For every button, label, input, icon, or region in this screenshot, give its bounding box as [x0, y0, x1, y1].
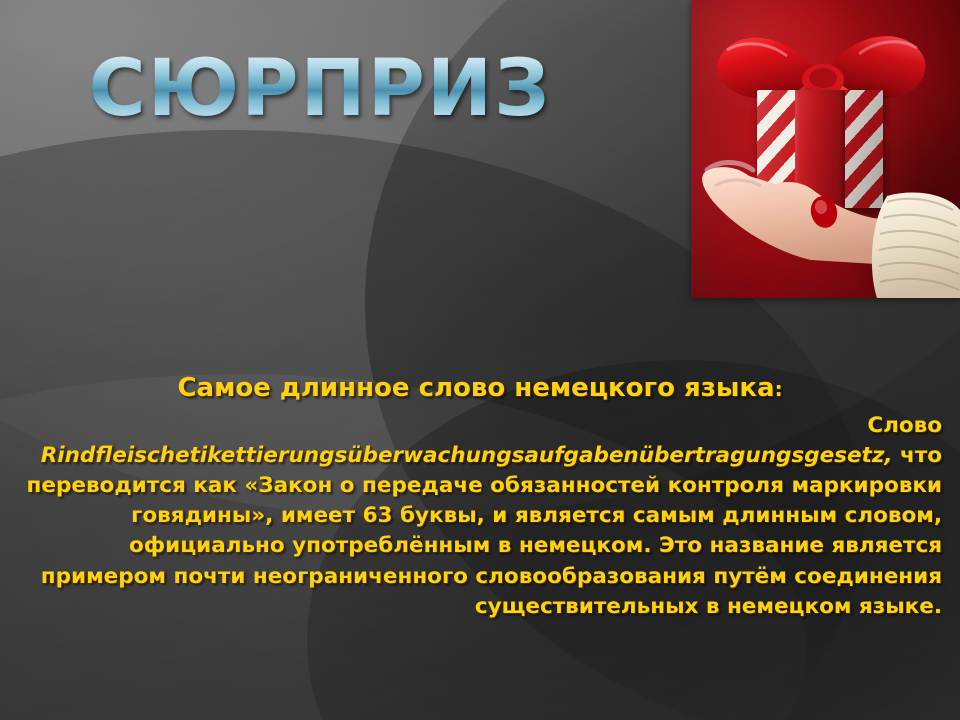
body-rest-text: что переводится как «Закон о передаче об…: [27, 443, 942, 618]
german-longest-word: Rindfleischetikettierungsüberwachungsauf…: [41, 443, 893, 468]
slide-title: СЮРПРИЗ: [88, 50, 551, 128]
slide-body-paragraph: Слово Rindfleischetikettierungsüberwachu…: [18, 411, 942, 622]
slide-heading-text: Самое длинное слово немецкого языка: [177, 373, 774, 403]
slide-title-container: СЮРПРИЗ: [0, 50, 640, 128]
presentation-slide: СЮРПРИЗ: [0, 0, 960, 720]
slide-heading-colon: :: [775, 377, 783, 401]
slide-text-block: Самое длинное слово немецкого языка: Сло…: [0, 374, 960, 622]
body-intro-text: Слово: [867, 413, 942, 438]
gift-photo: [691, 0, 960, 298]
slide-heading: Самое длинное слово немецкого языка:: [18, 374, 942, 403]
hand-icon: [691, 140, 960, 298]
